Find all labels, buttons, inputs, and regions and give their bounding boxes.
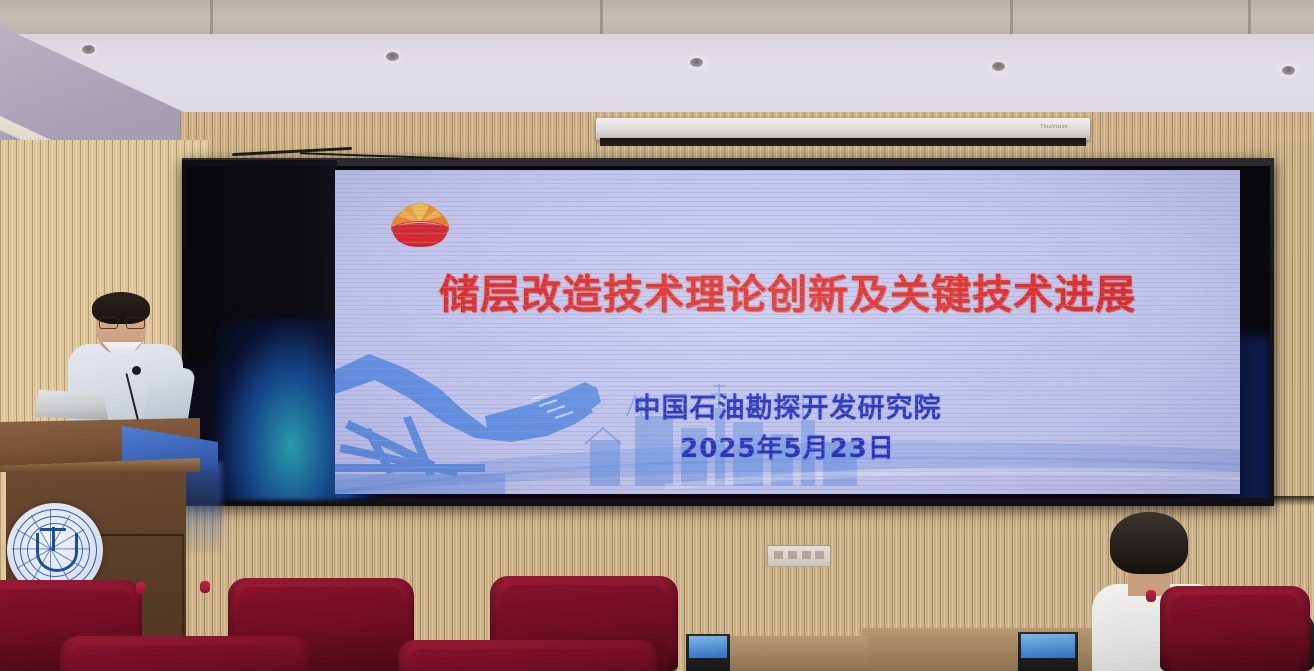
glasses-icon — [99, 317, 118, 329]
slide-title: 储层改造技术理论创新及关键技术进展 — [335, 262, 1240, 320]
slide-date: 2025年5月23日 — [335, 428, 1240, 465]
presenter-laptop[interactable] — [34, 390, 108, 420]
recessed-spotlight — [386, 52, 399, 61]
auditorium-seat-front[interactable] — [398, 640, 658, 671]
slide-organization: 中国石油勘探开发研究院 — [335, 386, 1240, 425]
attendee-hair — [1110, 512, 1188, 574]
conference-hall-photo: ThruVision — [0, 0, 1314, 671]
audience-desk — [862, 628, 1122, 671]
audience-laptop-screen — [1021, 634, 1075, 658]
light-switch-plate[interactable] — [767, 545, 831, 567]
recessed-spotlight — [1282, 66, 1295, 75]
presentation-slide[interactable]: 储层改造技术理论创新及关键技术进展 中国石油勘探开发研究院 2025年5月23日 — [335, 170, 1240, 494]
auditorium-seat-front[interactable] — [60, 636, 310, 671]
recessed-spotlight — [82, 45, 95, 54]
projector-brand-label: ThruVision — [1040, 124, 1068, 130]
microphone-head — [132, 366, 141, 375]
glasses-icon — [126, 317, 145, 329]
projector-screen-slot — [600, 138, 1086, 146]
petrochina-logo — [380, 197, 460, 253]
audience-laptop-screen — [689, 636, 727, 658]
retractable-projector-screen[interactable]: ThruVision — [596, 118, 1090, 140]
recessed-spotlight — [690, 58, 703, 67]
recessed-spotlight — [992, 62, 1005, 71]
auditorium-seat[interactable] — [1160, 586, 1310, 671]
ceiling-panel-strip — [0, 0, 1314, 34]
